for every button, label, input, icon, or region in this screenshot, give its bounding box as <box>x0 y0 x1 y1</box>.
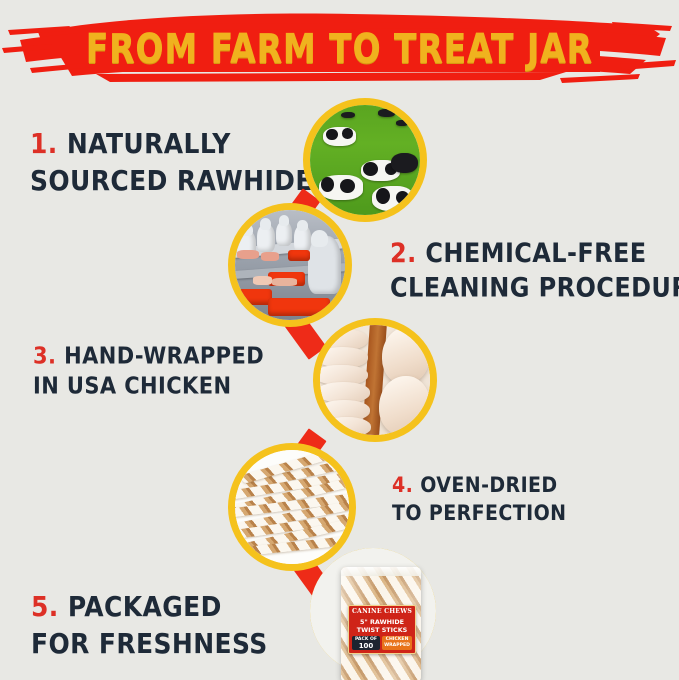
step-4-text: 4. OVEN-DRIED TO PERFECTION <box>392 472 566 527</box>
step-3-text: 3. HAND-WRAPPED IN USA CHICKEN <box>33 341 264 402</box>
package-badge-line1: CHICKEN <box>386 637 409 642</box>
step-2-image-circle <box>228 203 352 327</box>
step-5-line1: PACKAGED <box>68 590 222 622</box>
step-2-line1: CHEMICAL-FREE <box>425 237 646 268</box>
step-1-text: 1. NATURALLY SOURCED RAWHIDE <box>30 126 313 199</box>
step-5-text: 5. PACKAGED FOR FRESHNESS <box>31 589 268 662</box>
step-2-line2: CLEANING PROCEDURE <box>390 271 679 306</box>
step-5-line2: FOR FRESHNESS <box>31 625 268 661</box>
factory-processing-line-photo <box>235 210 345 320</box>
step-2-number: 2. <box>390 237 417 268</box>
step-5-image-circle: CANINE CHEWS 5" RAWHIDE TWIST STICKS PAC… <box>310 548 436 674</box>
step-3-line1: HAND-WRAPPED <box>64 342 264 369</box>
step-5-number: 5. <box>31 590 59 622</box>
rawhide-twist-sticks-photo <box>235 450 349 564</box>
product-package-photo: CANINE CHEWS 5" RAWHIDE TWIST STICKS PAC… <box>341 567 421 680</box>
step-4-line2: TO PERFECTION <box>392 500 566 528</box>
package-product-title: 5" RAWHIDE TWIST STICKS <box>349 618 415 634</box>
page-title: FROM FARM TO TREAT JAR <box>14 26 666 73</box>
package-chicken-wrapped-badge: CHICKEN WRAPPED <box>382 636 412 650</box>
sliced-chicken-breast-photo <box>320 325 430 435</box>
cows-in-pasture-photo <box>310 105 420 215</box>
package-count-badge: PACK OF 100 <box>352 636 380 650</box>
step-1-line1: NATURALLY <box>67 127 231 159</box>
package-title-line1: 5" RAWHIDE <box>360 618 404 626</box>
step-3-number: 3. <box>33 342 56 369</box>
step-4-line1: OVEN-DRIED <box>420 473 557 498</box>
step-1-line2: SOURCED RAWHIDE <box>30 162 313 198</box>
title-banner: FROM FARM TO TREAT JAR <box>0 4 679 92</box>
step-4-number: 4. <box>392 473 413 498</box>
package-brand: CANINE CHEWS <box>349 608 415 615</box>
step-1-image-circle <box>303 98 427 222</box>
package-pack-of-count: 100 <box>352 643 380 650</box>
step-1-number: 1. <box>30 127 58 159</box>
package-label: CANINE CHEWS 5" RAWHIDE TWIST STICKS PAC… <box>348 605 416 654</box>
package-title-line2: TWIST STICKS <box>357 626 408 634</box>
step-3-image-circle <box>313 318 437 442</box>
step-3-line2: IN USA CHICKEN <box>33 372 264 403</box>
package-badge-line2: WRAPPED <box>384 643 410 648</box>
infographic-root: FROM FARM TO TREAT JAR 1. NATURALLY SOUR… <box>0 0 679 680</box>
step-2-text: 2. CHEMICAL-FREE CLEANING PROCEDURE <box>390 236 679 306</box>
